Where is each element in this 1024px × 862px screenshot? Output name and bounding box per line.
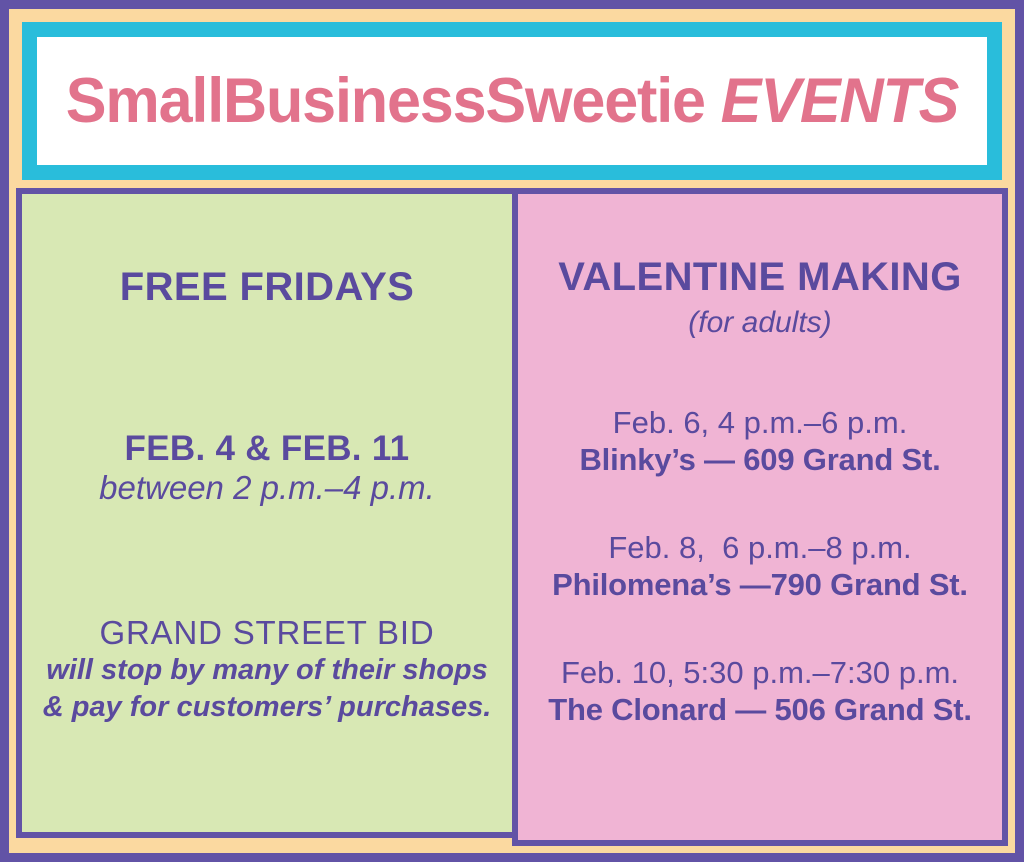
event-venue: Philomena’s —790 Grand St.	[518, 567, 1002, 604]
event-item: Feb. 8, 6 p.m.–8 p.m. Philomena’s —790 G…	[518, 530, 1002, 603]
event-item: Feb. 10, 5:30 p.m.–7:30 p.m. The Clonard…	[518, 655, 1002, 728]
header-white-box: SmallBusinessSweetie EVENTS	[37, 37, 987, 165]
free-fridays-detail-line-1: will stop by many of their shops	[22, 652, 512, 689]
free-fridays-details-block: GRAND STREET BID will stop by many of th…	[22, 614, 512, 726]
event-time: Feb. 6, 4 p.m.–6 p.m.	[518, 405, 1002, 442]
page-title: SmallBusinessSweetie EVENTS	[66, 70, 958, 133]
title-accent-text: EVENTS	[705, 66, 958, 136]
event-venue: The Clonard — 506 Grand St.	[518, 692, 1002, 729]
title-main-text: SmallBusinessSweetie	[66, 66, 705, 136]
event-item: Feb. 6, 4 p.m.–6 p.m. Blinky’s — 609 Gra…	[518, 405, 1002, 478]
grand-street-bid-label: GRAND STREET BID	[22, 614, 512, 652]
panel-free-fridays: FREE FRIDAYS FEB. 4 & FEB. 11 between 2 …	[16, 188, 512, 838]
free-fridays-time: between 2 p.m.–4 p.m.	[22, 469, 512, 507]
event-time: Feb. 8, 6 p.m.–8 p.m.	[518, 530, 1002, 567]
free-fridays-dates-block: FEB. 4 & FEB. 11 between 2 p.m.–4 p.m.	[22, 430, 512, 506]
event-poster: SmallBusinessSweetie EVENTS FREE FRIDAYS…	[0, 0, 1024, 862]
free-fridays-detail-line-2: & pay for customers’ purchases.	[22, 689, 512, 726]
free-fridays-dates: FEB. 4 & FEB. 11	[22, 430, 512, 469]
panel-valentine-making: VALENTINE MAKING (for adults) Feb. 6, 4 …	[512, 188, 1008, 846]
panels-container: FREE FRIDAYS FEB. 4 & FEB. 11 between 2 …	[16, 188, 1008, 846]
event-time: Feb. 10, 5:30 p.m.–7:30 p.m.	[518, 655, 1002, 692]
header-cyan-frame: SmallBusinessSweetie EVENTS	[22, 22, 1002, 180]
valentine-making-subheading: (for adults)	[518, 306, 1002, 339]
event-venue: Blinky’s — 609 Grand St.	[518, 442, 1002, 479]
valentine-making-heading: VALENTINE MAKING	[518, 256, 1002, 298]
free-fridays-heading: FREE FRIDAYS	[22, 266, 512, 308]
